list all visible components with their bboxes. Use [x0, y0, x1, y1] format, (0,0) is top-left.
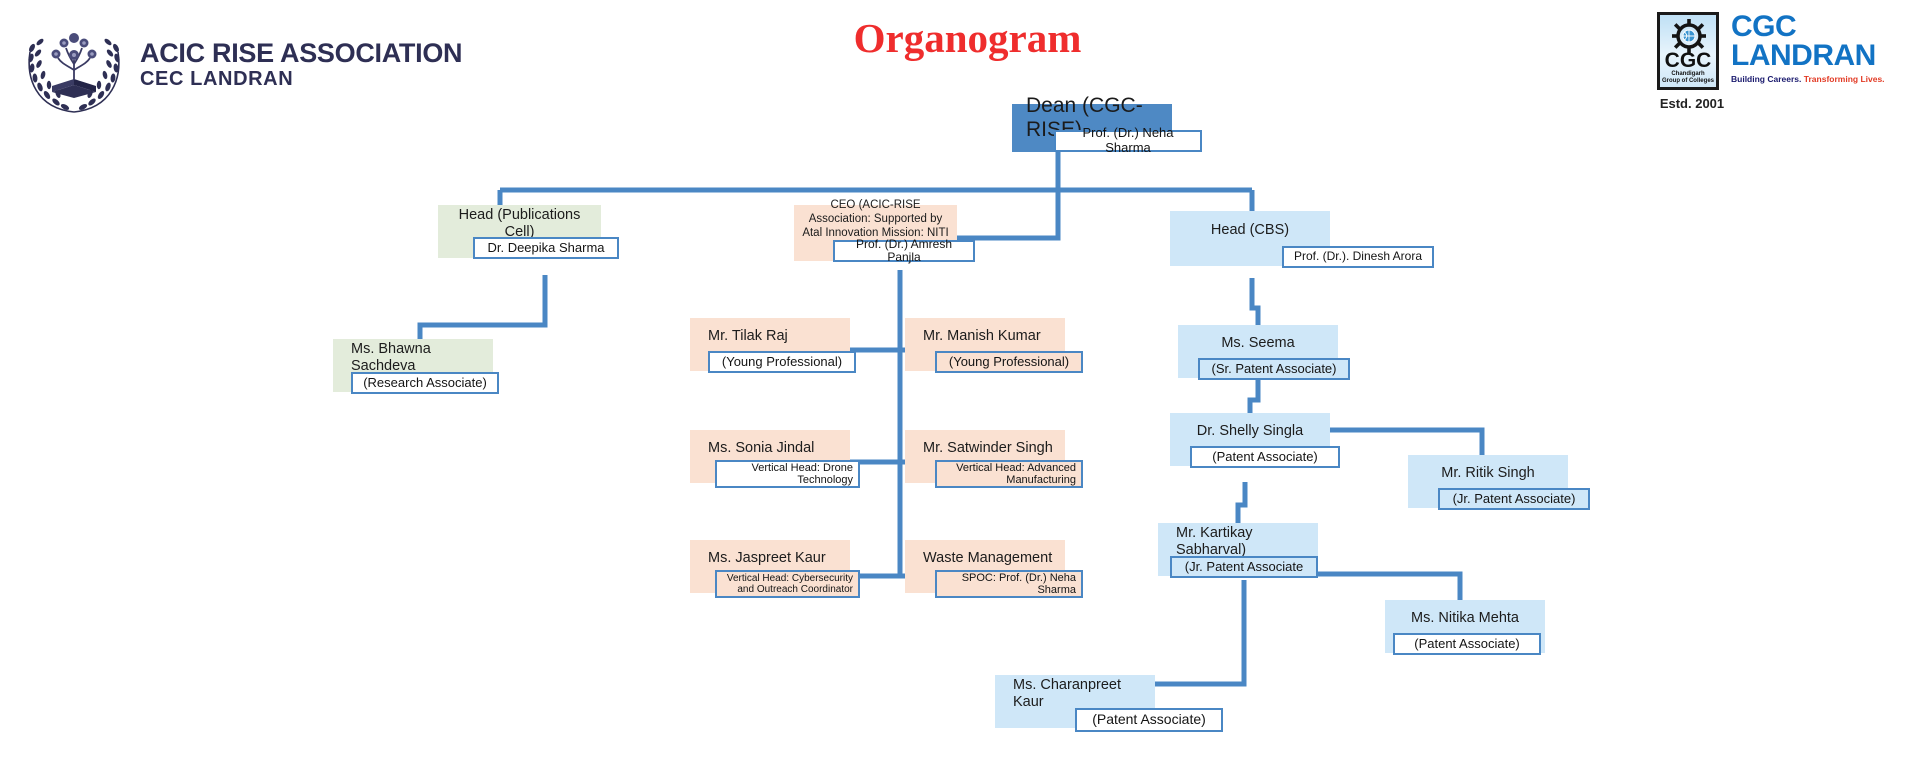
node-seema[interactable]: Ms. Seema (Sr. Patent Associate)	[1178, 325, 1338, 378]
node-shelly-singla-subtitle: (Patent Associate)	[1190, 446, 1340, 468]
node-seema-subtitle: (Sr. Patent Associate)	[1198, 358, 1350, 380]
node-satwinder-singh-subtitle: Vertical Head: Advanced Manufacturing	[935, 460, 1083, 488]
node-ritik-singh[interactable]: Mr. Ritik Singh (Jr. Patent Associate)	[1408, 455, 1568, 508]
node-dean[interactable]: Dean (CGC-RISE) Prof. (Dr.) Neha Sharma	[1012, 104, 1172, 152]
node-sonia-jindal[interactable]: Ms. Sonia Jindal Vertical Head: Drone Te…	[690, 430, 850, 483]
organogram-page: ACIC RISE ASSOCIATION CEC LANDRAN Organo…	[0, 0, 1905, 777]
node-charanpreet-kaur-subtitle: (Patent Associate)	[1075, 708, 1223, 732]
node-tilak-raj-subtitle: (Young Professional)	[708, 351, 856, 373]
node-nitika-mehta-subtitle: (Patent Associate)	[1393, 633, 1541, 655]
connector-lines	[0, 0, 1905, 777]
node-head-publications-cell-subtitle: Dr. Deepika Sharma	[473, 237, 619, 259]
node-ceo-subtitle: Prof. (Dr.) Amresh Panjla	[833, 240, 975, 262]
node-head-publications-cell[interactable]: Head (Publications Cell) Dr. Deepika Sha…	[438, 205, 601, 258]
node-ceo[interactable]: CEO (ACIC-RISE Association: Supported by…	[794, 205, 957, 261]
node-manish-kumar-subtitle: (Young Professional)	[935, 351, 1083, 373]
node-waste-management[interactable]: Waste Management SPOC: Prof. (Dr.) Neha …	[905, 540, 1065, 593]
node-jaspreet-kaur-subtitle: Vertical Head: Cybersecurity and Outreac…	[715, 570, 860, 598]
node-sonia-jindal-subtitle: Vertical Head: Drone Technology	[715, 460, 860, 488]
org-chart: Dean (CGC-RISE) Prof. (Dr.) Neha Sharma …	[0, 0, 1905, 777]
node-manish-kumar[interactable]: Mr. Manish Kumar (Young Professional)	[905, 318, 1065, 371]
node-bhawna-sachdeva-subtitle: (Research Associate)	[351, 372, 499, 394]
node-kartikay-sabharval-subtitle: (Jr. Patent Associate	[1170, 556, 1318, 578]
node-nitika-mehta[interactable]: Ms. Nitika Mehta (Patent Associate)	[1385, 600, 1545, 653]
node-ritik-singh-subtitle: (Jr. Patent Associate)	[1438, 488, 1590, 510]
node-satwinder-singh[interactable]: Mr. Satwinder Singh Vertical Head: Advan…	[905, 430, 1065, 483]
node-waste-management-subtitle: SPOC: Prof. (Dr.) Neha Sharma	[935, 570, 1083, 598]
node-bhawna-sachdeva[interactable]: Ms. Bhawna Sachdeva (Research Associate)	[333, 339, 493, 392]
node-jaspreet-kaur[interactable]: Ms. Jaspreet Kaur Vertical Head: Cyberse…	[690, 540, 850, 593]
node-head-cbs[interactable]: Head (CBS) Prof. (Dr.). Dinesh Arora	[1170, 211, 1330, 266]
node-tilak-raj[interactable]: Mr. Tilak Raj (Young Professional)	[690, 318, 850, 371]
node-kartikay-sabharval[interactable]: Mr. Kartikay Sabharval) (Jr. Patent Asso…	[1158, 523, 1318, 576]
node-shelly-singla[interactable]: Dr. Shelly Singla (Patent Associate)	[1170, 413, 1330, 466]
node-dean-subtitle: Prof. (Dr.) Neha Sharma	[1054, 130, 1202, 152]
node-head-cbs-subtitle: Prof. (Dr.). Dinesh Arora	[1282, 246, 1434, 268]
node-charanpreet-kaur[interactable]: Ms. Charanpreet Kaur (Patent Associate)	[995, 675, 1155, 728]
